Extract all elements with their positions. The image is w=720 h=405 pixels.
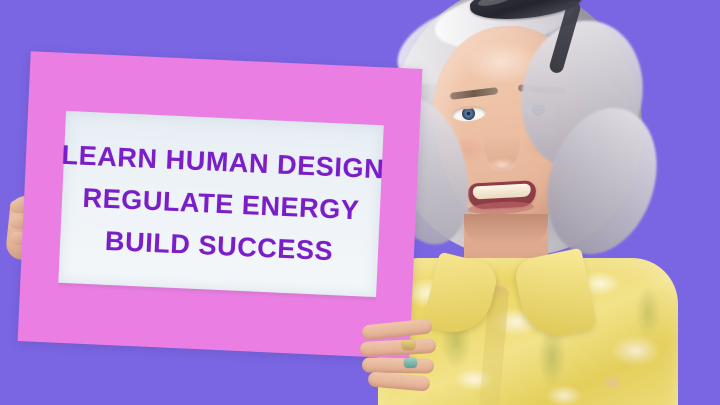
finger — [360, 338, 437, 357]
promo-image-canvas: LEARN HUMAN DESIGN REGULATE ENERGY BUILD… — [0, 0, 720, 405]
sign-line-1: LEARN HUMAN DESIGN — [61, 139, 385, 185]
ring-icon — [402, 340, 415, 350]
ring-icon — [404, 358, 417, 368]
finger — [367, 371, 430, 391]
sign-panel: LEARN HUMAN DESIGN REGULATE ENERGY BUILD… — [58, 111, 383, 297]
sign-line-2: REGULATE ENERGY — [82, 182, 360, 226]
held-sign[interactable]: LEARN HUMAN DESIGN REGULATE ENERGY BUILD… — [18, 51, 423, 358]
finger — [361, 318, 432, 340]
right-hand-fingers — [368, 0, 498, 405]
sign-text-block: LEARN HUMAN DESIGN REGULATE ENERGY BUILD… — [58, 111, 383, 297]
sign-line-3: BUILD SUCCESS — [104, 225, 333, 266]
